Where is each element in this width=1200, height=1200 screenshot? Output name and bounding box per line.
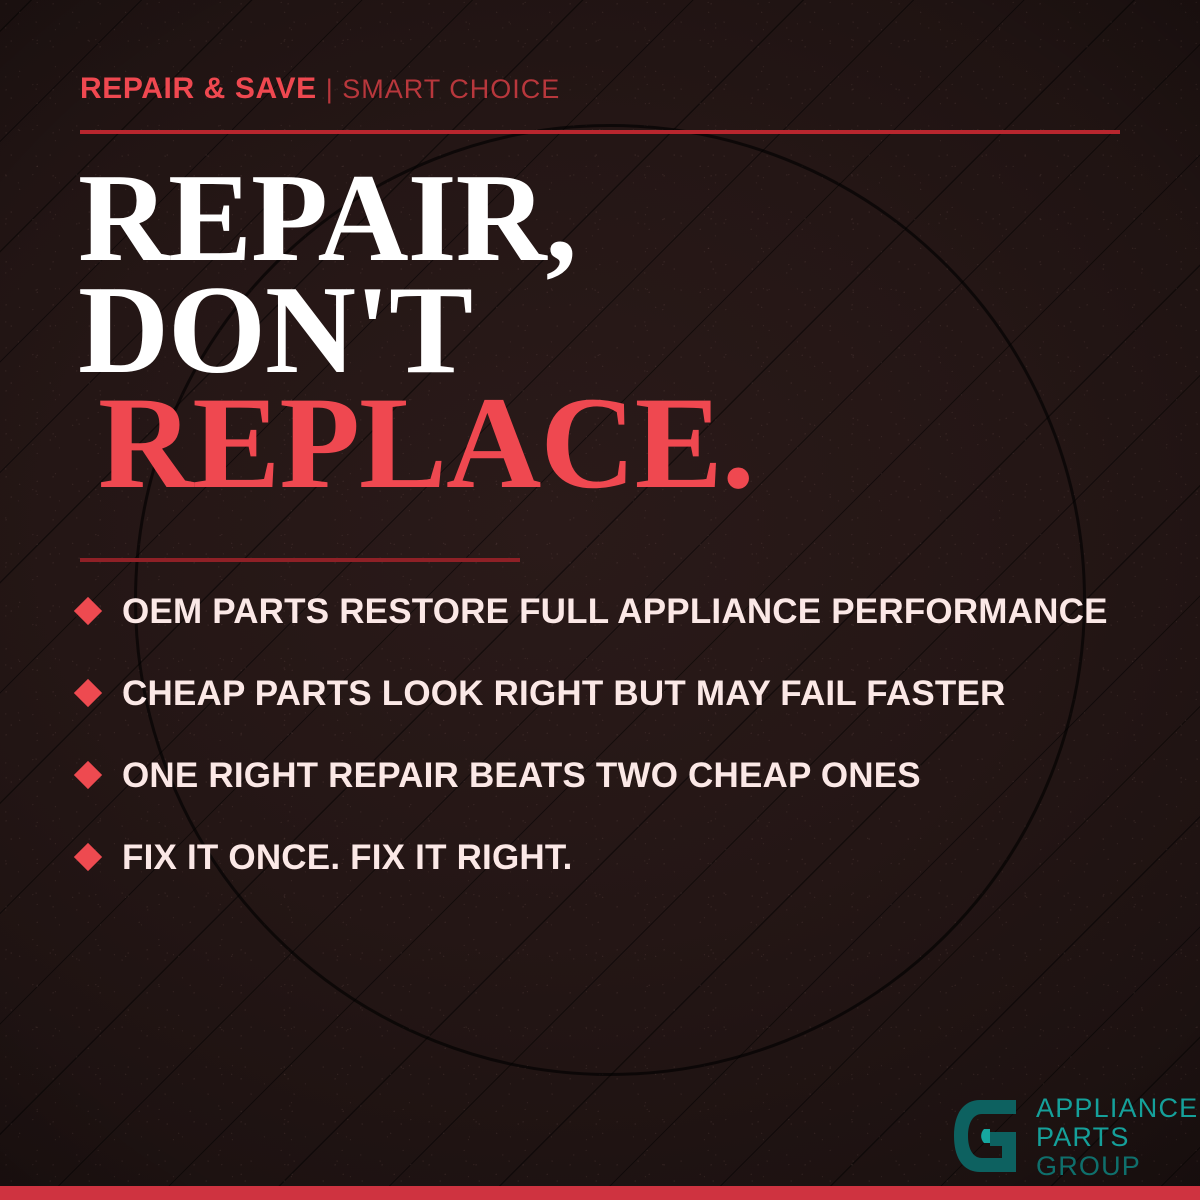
headline-line-1: REPAIR,	[78, 163, 754, 275]
list-item: CHEAP PARTS LOOK RIGHT BUT MAY FAIL FAST…	[78, 668, 1148, 718]
list-item: ONE RIGHT REPAIR BEATS TWO CHEAP ONES	[78, 750, 1148, 800]
list-item-label: ONE RIGHT REPAIR BEATS TWO CHEAP ONES	[122, 758, 921, 793]
list-item: OEM PARTS RESTORE FULL APPLIANCE PERFORM…	[78, 586, 1148, 636]
eyebrow-strong-text: REPAIR & SAVE	[80, 72, 317, 105]
eyebrow-label: REPAIR & SAVE| SMART CHOICE	[80, 74, 560, 104]
brand-logo: APPLIANCE PARTS GROUP	[946, 1092, 1198, 1185]
g-monogram-icon	[946, 1092, 1024, 1185]
diamond-bullet-icon	[74, 679, 102, 707]
eyebrow-light-text: | SMART CHOICE	[326, 74, 561, 104]
list-item-label: CHEAP PARTS LOOK RIGHT BUT MAY FAIL FAST…	[122, 676, 1006, 711]
section-divider-rule	[80, 558, 520, 562]
diamond-bullet-icon	[74, 597, 102, 625]
diamond-bullet-icon	[74, 843, 102, 871]
bottom-accent-bar	[0, 1186, 1200, 1200]
list-item-label: OEM PARTS RESTORE FULL APPLIANCE PERFORM…	[122, 594, 1108, 629]
page-title: REPAIR, DON'T REPLACE.	[78, 163, 754, 499]
headline-line-3: REPLACE.	[98, 387, 754, 499]
promo-poster: REPAIR & SAVE| SMART CHOICE REPAIR, DON'…	[0, 0, 1200, 1200]
header-divider-rule	[80, 130, 1120, 134]
logo-word-line-1: APPLIANCE	[1036, 1094, 1198, 1123]
benefits-list: OEM PARTS RESTORE FULL APPLIANCE PERFORM…	[78, 586, 1148, 914]
list-item-label: FIX IT ONCE. FIX IT RIGHT.	[122, 840, 573, 875]
logo-word-line-2: PARTS	[1036, 1123, 1198, 1152]
diamond-bullet-icon	[74, 761, 102, 789]
logo-word-line-3: GROUP	[1036, 1152, 1198, 1181]
brand-logo-wordmark: APPLIANCE PARTS GROUP	[1036, 1092, 1198, 1181]
poster-content: REPAIR & SAVE| SMART CHOICE REPAIR, DON'…	[0, 0, 1200, 1200]
list-item: FIX IT ONCE. FIX IT RIGHT.	[78, 832, 1148, 882]
